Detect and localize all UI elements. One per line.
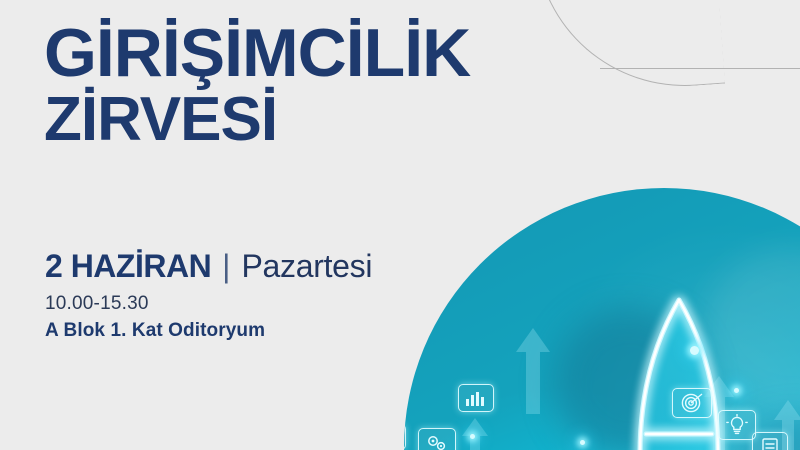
page-title: GİRİŞİMCİLİK ZİRVESİ (44, 22, 470, 148)
bar-chart-icon (458, 384, 494, 412)
headline-line-2: ZİRVESİ (44, 91, 470, 148)
event-date-row: 2 HAZİRAN | Pazartesi (45, 248, 372, 285)
event-weekday: Pazartesi (241, 248, 372, 285)
spark-particle (734, 388, 739, 393)
up-arrow-icon (516, 328, 550, 414)
event-date: 2 HAZİRAN (45, 248, 211, 285)
decorative-horizontal-line (600, 68, 800, 69)
rocket-illustration (554, 258, 800, 450)
headline-line-1: GİRİŞİMCİLİK (44, 15, 470, 91)
gears-icon (418, 428, 456, 450)
artwork-panel (404, 188, 800, 450)
document-icon (752, 432, 788, 450)
decorative-curve-line (535, 0, 725, 96)
spark-particle (690, 346, 699, 355)
spark-particle (470, 434, 475, 439)
up-arrow-icon (462, 418, 488, 450)
target-icon (672, 388, 712, 418)
spark-particle (580, 440, 585, 445)
date-separator: | (222, 248, 230, 285)
event-time: 10.00-15.30 (45, 293, 149, 315)
lightbulb-icon (718, 410, 756, 440)
chip-icon (404, 424, 406, 450)
event-poster: GİRİŞİMCİLİK ZİRVESİ 2 HAZİRAN | Pazarte… (0, 0, 800, 450)
event-venue: A Blok 1. Kat Oditoryum (45, 320, 265, 342)
